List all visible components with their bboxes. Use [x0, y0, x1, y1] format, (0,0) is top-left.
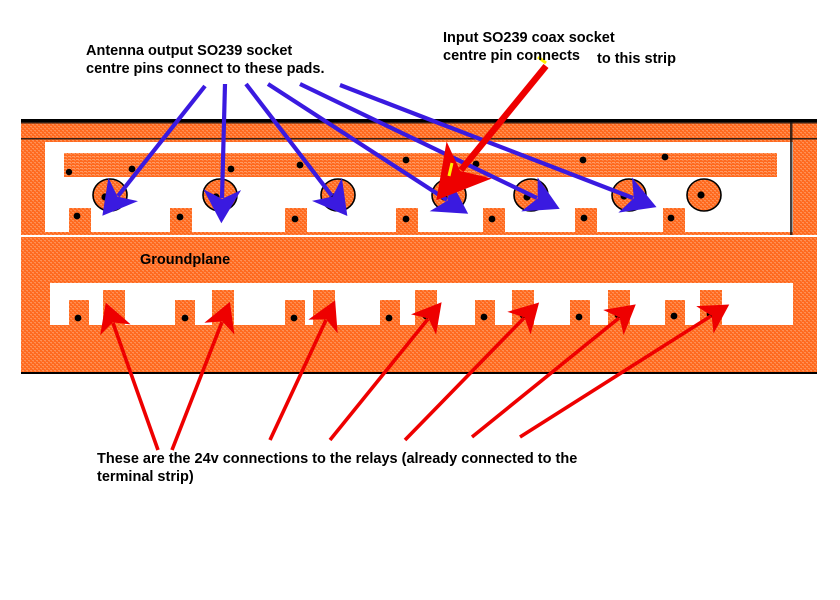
antenna-arrow [222, 84, 225, 198]
top-section-tab [663, 208, 685, 232]
antenna-pad [321, 179, 355, 211]
board-top-rule [21, 119, 817, 122]
input-socket-line2: centre pin connects [443, 48, 580, 64]
top-band-rule-upper [21, 122, 817, 124]
strip-via [129, 166, 136, 173]
terminal-tab-short [570, 300, 590, 325]
relay-24v-line2: terminal strip) [97, 469, 194, 485]
terminal-tab-short [175, 300, 195, 325]
signal-strip-copper [64, 153, 777, 177]
terminal-tab-short [665, 300, 685, 325]
antenna-output-line2: centre pins connect to these pads. [86, 61, 325, 77]
terminal-tab-short [69, 300, 89, 325]
terminal-tab-tall-24v [103, 290, 125, 325]
input-socket-tail: to this strip [597, 50, 676, 68]
pad-centre-hole [212, 193, 219, 200]
pad-centre-hole [101, 193, 108, 200]
board-bottom-rule [21, 372, 817, 374]
strip-via [403, 157, 410, 164]
top-section-tab [69, 208, 91, 232]
top-section-tab [170, 208, 192, 232]
input-signal-strip [64, 153, 777, 177]
pad-centre-hole [697, 191, 704, 198]
groundplane-label: Groundplane [140, 252, 230, 268]
terminal-tab-short [380, 300, 400, 325]
strip-via [662, 154, 669, 161]
pcb-board [21, 119, 817, 374]
terminal-tab-short [475, 300, 495, 325]
strip-via [228, 166, 235, 173]
strip-via [66, 169, 72, 175]
top-board-right-rule [790, 122, 793, 235]
diagram-canvas: Antenna output SO239 socketcentre pins c… [0, 0, 840, 600]
strip-via [580, 157, 587, 164]
antenna-pad [93, 179, 127, 211]
antenna-output-annotation: Antenna output SO239 socketcentre pins c… [86, 42, 325, 78]
top-section-tab [575, 208, 597, 232]
top-section-tab [285, 208, 307, 232]
input-socket-annotation: Input SO239 coax socketcentre pin connec… [443, 29, 615, 65]
pcb-diagram-svg [0, 0, 840, 600]
terminal-tab-short [285, 300, 305, 325]
terminal-tab-tall-24v [313, 290, 335, 325]
top-section-tab [396, 208, 418, 232]
antenna-pad [687, 179, 721, 211]
top-section-tab [483, 208, 505, 232]
strip-via [297, 162, 304, 169]
relay-24v-annotation: These are the 24v connections to the rel… [97, 450, 577, 486]
relay-24v-line1: These are the 24v connections to the rel… [97, 451, 577, 467]
antenna-output-line1: Antenna output SO239 socket [86, 43, 292, 59]
terminal-tab-tall-24v [212, 290, 234, 325]
input-socket-line1: Input SO239 coax socket [443, 30, 615, 46]
